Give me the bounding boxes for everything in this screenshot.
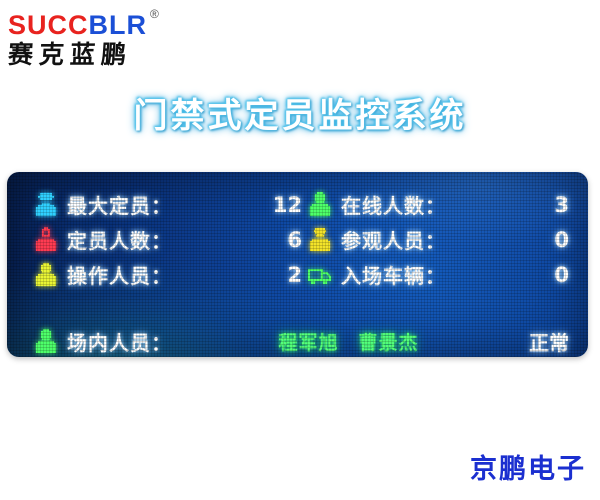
led-row-vehicles: 入场车辆： 0 — [307, 257, 575, 292]
footer-company-logo: 京鹏电子 — [470, 447, 586, 486]
led-row-persons-on-site: 场内人员： 程军旭 曹景杰 正常 — [33, 327, 575, 356]
led-value: 6 — [287, 228, 308, 252]
person-yellow-icon — [33, 261, 59, 289]
led-right-column: 在线人数： 3 — [307, 187, 575, 292]
led-value: 12 — [273, 193, 308, 217]
person-red-icon — [33, 226, 59, 254]
led-label: 参观人员： — [341, 225, 446, 254]
led-row-online-count: 在线人数： 3 — [307, 187, 575, 222]
led-label: 在线人数： — [341, 190, 446, 219]
company-logo-chinese: 赛克蓝鹏 — [7, 40, 239, 70]
logo-text-succ: SUCC — [8, 10, 89, 40]
persons-on-site-names: 程军旭 曹景杰 — [278, 328, 422, 355]
led-row-operators: 操作人员： 2 — [33, 257, 308, 292]
status-badge: 正常 — [529, 327, 575, 356]
led-value: 0 — [554, 263, 575, 287]
company-logo: SUCCBLR® 赛克蓝鹏 — [8, 6, 238, 68]
truck-icon — [307, 261, 333, 289]
person-green-icon — [33, 328, 59, 356]
person-visitor-icon — [307, 226, 333, 254]
led-row-max-capacity: 最大定员： 12 — [33, 187, 308, 222]
led-label: 最大定员： — [67, 190, 172, 219]
logo-text-blr: BLR — [89, 10, 148, 40]
led-label: 定员人数： — [67, 225, 172, 254]
page-title: 门禁式定员监控系统 — [0, 88, 600, 137]
company-logo-latin: SUCCBLR® — [8, 6, 238, 39]
led-label: 操作人员： — [67, 260, 172, 289]
led-label: 入场车辆： — [341, 260, 446, 289]
led-left-column: 最大定员： 12 — [33, 187, 308, 292]
led-value: 0 — [554, 228, 575, 252]
led-label: 场内人员： — [67, 327, 172, 356]
led-row-visitors: 参观人员： 0 — [307, 222, 575, 257]
person-green-icon — [307, 191, 333, 219]
led-content: 最大定员： 12 — [7, 172, 588, 357]
led-value: 3 — [554, 193, 575, 217]
led-display-panel: 最大定员： 12 — [7, 172, 588, 357]
person-helmet-icon — [33, 191, 59, 219]
led-row-registered-count: 定员人数： 6 — [33, 222, 308, 257]
registered-trademark-icon: ® — [150, 7, 160, 21]
led-value: 2 — [287, 263, 308, 287]
